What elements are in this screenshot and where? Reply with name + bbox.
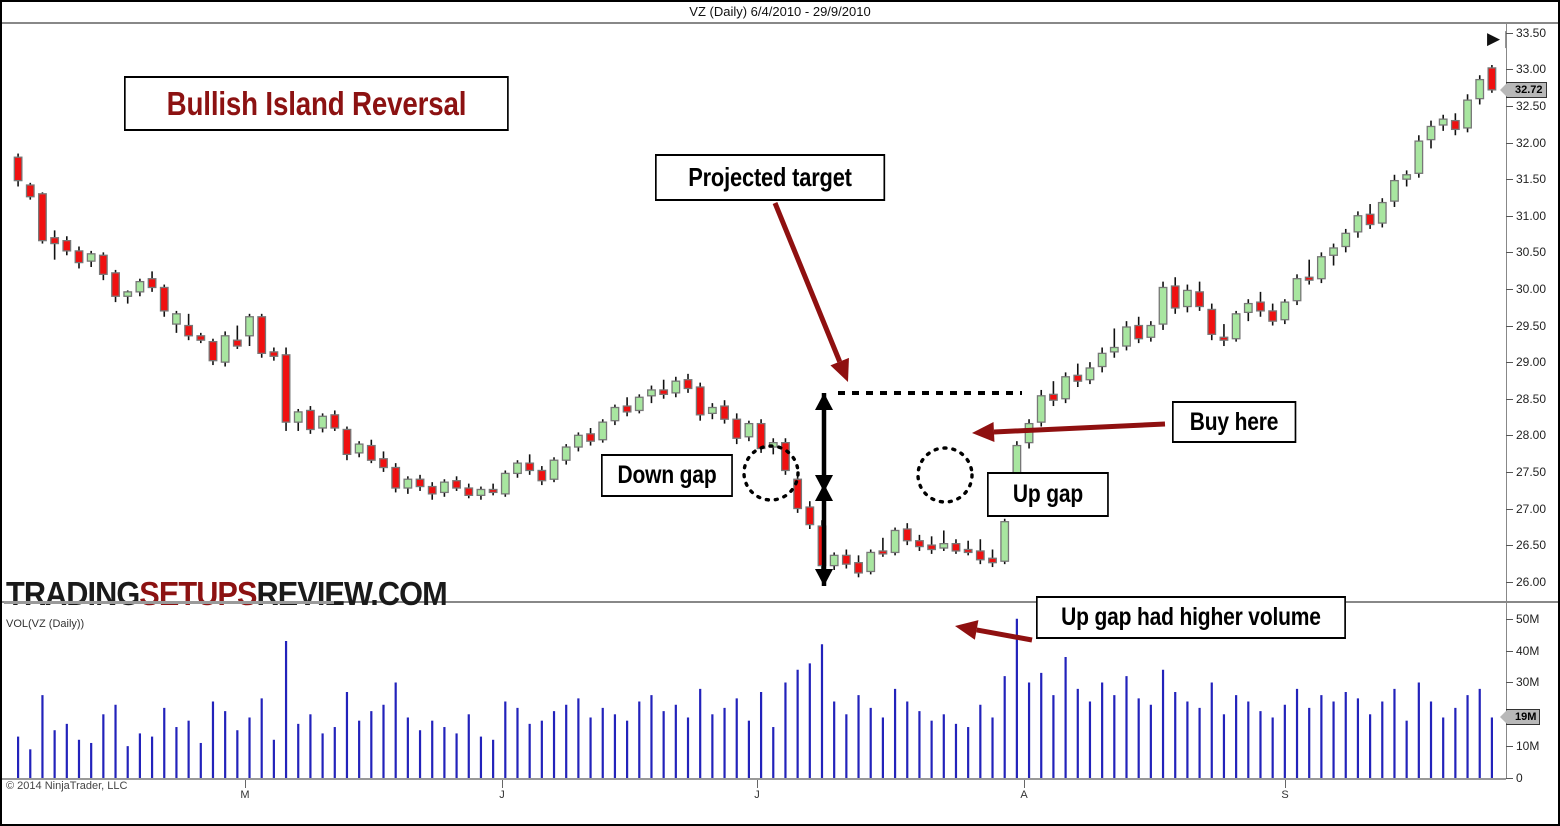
candle xyxy=(26,183,34,200)
candle xyxy=(1366,204,1374,229)
candle xyxy=(696,383,704,421)
candle xyxy=(1147,321,1155,341)
candle xyxy=(343,427,351,461)
month-label: S xyxy=(1281,789,1288,801)
price-tick xyxy=(1506,69,1513,70)
candle xyxy=(1135,317,1143,343)
candle xyxy=(964,541,972,556)
candle xyxy=(87,251,95,267)
candle xyxy=(1415,135,1423,177)
candle xyxy=(891,528,899,556)
candle xyxy=(112,270,120,302)
candle xyxy=(903,523,911,545)
candle xyxy=(1050,381,1058,406)
price-tick-label: 26.50 xyxy=(1516,538,1546,552)
candle xyxy=(806,501,814,529)
volume-tick xyxy=(1506,778,1513,779)
candle xyxy=(307,406,315,434)
candle xyxy=(818,520,826,574)
last-price-tag: 32.72 xyxy=(1506,82,1547,98)
volume-tick-label: 30M xyxy=(1516,675,1539,689)
candle xyxy=(599,419,607,442)
candle xyxy=(489,484,497,496)
candle xyxy=(952,539,960,554)
candle xyxy=(1342,229,1350,252)
candle xyxy=(1074,364,1082,387)
volume-tick-label: 50M xyxy=(1516,612,1539,626)
volume-tick xyxy=(1506,746,1513,747)
candle xyxy=(319,413,327,432)
candle xyxy=(843,549,851,568)
candle xyxy=(404,476,412,494)
candle xyxy=(940,530,948,550)
candle xyxy=(648,386,656,404)
candle xyxy=(526,454,534,474)
price-tick-label: 27.50 xyxy=(1516,465,1546,479)
candle xyxy=(441,479,449,497)
candle xyxy=(721,400,729,423)
price-tick xyxy=(1506,472,1513,473)
candle xyxy=(1257,292,1265,317)
candle xyxy=(1281,299,1289,324)
candle xyxy=(258,314,266,358)
annotation-down-gap: Down gap xyxy=(601,454,733,497)
candle xyxy=(611,405,619,425)
price-tick xyxy=(1506,106,1513,107)
candle xyxy=(733,413,741,444)
candle xyxy=(1098,347,1106,372)
candle xyxy=(1269,304,1277,326)
annotation-buy-here: Buy here xyxy=(1172,401,1296,443)
time-axis-line xyxy=(2,778,1506,780)
candle xyxy=(100,252,108,280)
candle xyxy=(794,475,802,513)
chart-title: VZ (Daily) 6/4/2010 - 29/9/2010 xyxy=(2,2,1558,22)
candle xyxy=(514,460,522,478)
candle xyxy=(867,549,875,574)
annotation-volume-note: Up gap had higher volume xyxy=(1036,596,1346,639)
candle xyxy=(1464,94,1472,132)
candle xyxy=(769,438,777,454)
candle xyxy=(684,374,692,393)
price-tick-label: 33.50 xyxy=(1516,26,1546,40)
candle xyxy=(1427,121,1435,149)
candle xyxy=(977,539,985,564)
candle xyxy=(709,403,717,419)
month-label: A xyxy=(1020,789,1027,801)
candle xyxy=(1037,390,1045,427)
price-tick-label: 32.50 xyxy=(1516,99,1546,113)
candle xyxy=(39,192,47,243)
price-tick-label: 33.00 xyxy=(1516,62,1546,76)
price-tick-label: 27.00 xyxy=(1516,502,1546,516)
candle xyxy=(1391,175,1399,207)
candle xyxy=(197,333,205,343)
volume-tick xyxy=(1506,651,1513,652)
candle xyxy=(989,549,997,567)
candle xyxy=(1086,362,1094,384)
candle xyxy=(782,438,790,475)
price-tick-label: 29.00 xyxy=(1516,355,1546,369)
annotation-title-box: Bullish Island Reversal xyxy=(124,76,509,131)
candle xyxy=(745,421,753,441)
candle xyxy=(160,285,168,317)
candle xyxy=(51,230,59,259)
candle xyxy=(562,444,570,464)
candle xyxy=(331,410,339,430)
candle xyxy=(672,377,680,397)
price-tick-label: 26.00 xyxy=(1516,575,1546,589)
annotation-projected-target: Projected target xyxy=(655,154,885,201)
candle xyxy=(1403,170,1411,186)
candle xyxy=(1488,65,1496,93)
candle xyxy=(282,347,290,430)
price-tick xyxy=(1506,33,1513,34)
candle xyxy=(1439,115,1447,131)
volume-tick-label: 0 xyxy=(1516,771,1523,785)
candle xyxy=(1184,285,1192,313)
price-tick-label: 30.00 xyxy=(1516,282,1546,296)
candle xyxy=(380,451,388,471)
month-tick xyxy=(1285,780,1286,788)
month-label: M xyxy=(240,789,249,801)
chart-window: VZ (Daily) 6/4/2010 - 29/9/2010 ▶❘ TRADI… xyxy=(0,0,1560,826)
candle xyxy=(1001,519,1009,564)
price-tick xyxy=(1506,509,1513,510)
price-tick-label: 28.50 xyxy=(1516,392,1546,406)
candle xyxy=(928,536,936,554)
price-tick xyxy=(1506,582,1513,583)
candle xyxy=(173,311,181,333)
candle xyxy=(124,290,132,303)
candle xyxy=(538,466,546,485)
price-tick-label: 28.00 xyxy=(1516,428,1546,442)
candle xyxy=(392,463,400,492)
candle xyxy=(246,314,254,346)
candle xyxy=(1330,244,1338,266)
price-tick xyxy=(1506,399,1513,400)
candle xyxy=(234,326,242,349)
candle xyxy=(1123,321,1131,350)
volume-tick-label: 10M xyxy=(1516,739,1539,753)
month-tick xyxy=(757,780,758,788)
volume-tick-label: 40M xyxy=(1516,644,1539,658)
candle xyxy=(757,419,765,453)
price-axis[interactable]: 33.5033.0032.5032.0031.5031.0030.5030.00… xyxy=(1506,24,1558,778)
month-label: J xyxy=(499,789,505,801)
price-tick-label: 30.50 xyxy=(1516,245,1546,259)
candle xyxy=(623,397,631,416)
candle xyxy=(355,441,363,457)
price-tick xyxy=(1506,179,1513,180)
candle xyxy=(575,432,583,451)
candle xyxy=(879,538,887,557)
candle xyxy=(1196,282,1204,311)
price-tick-label: 29.50 xyxy=(1516,319,1546,333)
candle xyxy=(1208,304,1216,341)
annotation-up-gap: Up gap xyxy=(987,472,1109,517)
candle xyxy=(294,409,302,431)
candle xyxy=(1354,211,1362,237)
month-label: J xyxy=(754,789,760,801)
candle xyxy=(148,271,156,291)
candle xyxy=(502,470,510,496)
price-tick xyxy=(1506,326,1513,327)
candle xyxy=(550,457,558,482)
volume-tick xyxy=(1506,682,1513,683)
candle xyxy=(270,347,278,360)
candle xyxy=(63,236,71,255)
candle xyxy=(1245,299,1253,321)
candle xyxy=(14,154,22,187)
candle xyxy=(453,476,461,491)
price-tick xyxy=(1506,216,1513,217)
candle xyxy=(916,535,924,551)
candle xyxy=(185,314,193,340)
candle xyxy=(1476,75,1484,104)
month-tick xyxy=(245,780,246,788)
volume-tick xyxy=(1506,619,1513,620)
candle xyxy=(1220,324,1228,346)
candle xyxy=(1452,113,1460,135)
candle xyxy=(660,380,668,399)
candle xyxy=(587,428,595,446)
candle xyxy=(1025,419,1033,448)
price-tick xyxy=(1506,143,1513,144)
candle xyxy=(75,246,83,268)
candle xyxy=(477,487,485,500)
candle xyxy=(1293,274,1301,305)
price-tick-label: 32.00 xyxy=(1516,136,1546,150)
candle xyxy=(1232,311,1240,342)
price-tick xyxy=(1506,289,1513,290)
candle xyxy=(1111,328,1119,357)
candle xyxy=(1159,282,1167,330)
price-tick-label: 31.00 xyxy=(1516,209,1546,223)
candle xyxy=(855,555,863,577)
last-volume-tag: 19M xyxy=(1506,709,1540,725)
axis-line xyxy=(1506,24,1507,778)
candle xyxy=(1305,260,1313,285)
candle xyxy=(368,440,376,463)
price-tick xyxy=(1506,362,1513,363)
price-tick xyxy=(1506,252,1513,253)
candle xyxy=(1171,277,1179,314)
candle xyxy=(1318,252,1326,283)
candle xyxy=(465,484,473,499)
candle xyxy=(830,552,838,570)
candle xyxy=(416,475,424,491)
candle xyxy=(1062,372,1070,403)
candle xyxy=(1379,198,1387,227)
candle xyxy=(428,482,436,500)
candle xyxy=(221,331,229,366)
time-axis: MJJAS xyxy=(2,778,1506,824)
price-tick-label: 31.50 xyxy=(1516,172,1546,186)
candle xyxy=(136,279,144,297)
price-tick xyxy=(1506,435,1513,436)
candle xyxy=(209,339,217,365)
month-tick xyxy=(1024,780,1025,788)
candle xyxy=(636,394,644,413)
price-tick xyxy=(1506,545,1513,546)
watermark-underline xyxy=(4,601,334,604)
month-tick xyxy=(502,780,503,788)
